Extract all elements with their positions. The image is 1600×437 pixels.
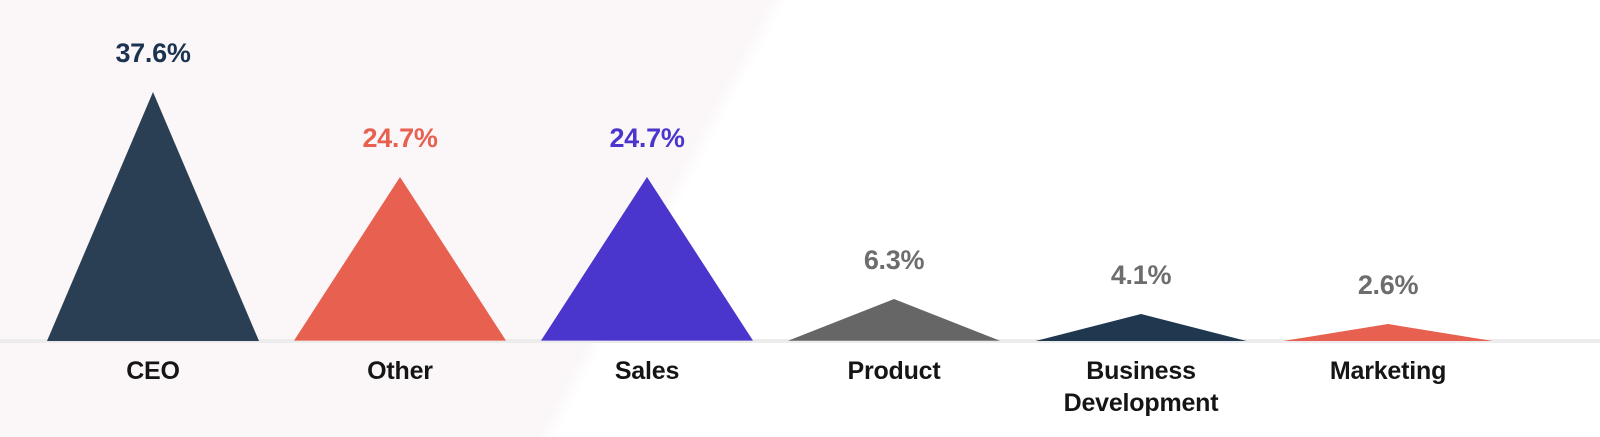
category-label: Sales — [524, 355, 771, 387]
value-label: 6.3% — [771, 245, 1018, 276]
triangle-mark[interactable] — [294, 177, 506, 341]
category-label-line: CEO — [30, 355, 277, 387]
chart-category-ceo[interactable]: 37.6%CEO — [30, 0, 277, 437]
value-label: 24.7% — [277, 123, 524, 154]
triangle-mark[interactable] — [47, 92, 259, 341]
triangle-mark[interactable] — [1282, 324, 1494, 341]
category-label-line: Marketing — [1265, 355, 1512, 387]
triangle-mark[interactable] — [788, 299, 1000, 341]
plot-area: 37.6%CEO24.7%Other24.7%Sales6.3%Product4… — [0, 0, 1600, 437]
category-label-line: Other — [277, 355, 524, 387]
category-label-line: Sales — [524, 355, 771, 387]
value-label: 37.6% — [30, 38, 277, 69]
category-label-line: Product — [771, 355, 1018, 387]
chart-category-product[interactable]: 6.3%Product — [771, 0, 1018, 437]
value-label: 2.6% — [1265, 270, 1512, 301]
category-label: BusinessDevelopment — [1018, 355, 1265, 419]
triangle-mark[interactable] — [541, 177, 753, 341]
triangle-shape — [47, 92, 259, 341]
triangle-shape — [1035, 314, 1247, 341]
triangle-shape — [1282, 324, 1494, 341]
category-label-line: Development — [1018, 387, 1265, 419]
triangle-chart: 37.6%CEO24.7%Other24.7%Sales6.3%Product4… — [0, 0, 1600, 437]
value-label: 24.7% — [524, 123, 771, 154]
triangle-shape — [294, 177, 506, 341]
triangle-shape — [788, 299, 1000, 341]
chart-category-sales[interactable]: 24.7%Sales — [524, 0, 771, 437]
category-label: Product — [771, 355, 1018, 387]
triangle-mark[interactable] — [1035, 314, 1247, 341]
chart-category-other[interactable]: 24.7%Other — [277, 0, 524, 437]
value-label: 4.1% — [1018, 260, 1265, 291]
category-label-line: Business — [1018, 355, 1265, 387]
category-label: Marketing — [1265, 355, 1512, 387]
triangle-shape — [541, 177, 753, 341]
category-label: CEO — [30, 355, 277, 387]
chart-category-business-development[interactable]: 4.1%BusinessDevelopment — [1018, 0, 1265, 437]
chart-category-marketing[interactable]: 2.6%Marketing — [1265, 0, 1512, 437]
category-label: Other — [277, 355, 524, 387]
